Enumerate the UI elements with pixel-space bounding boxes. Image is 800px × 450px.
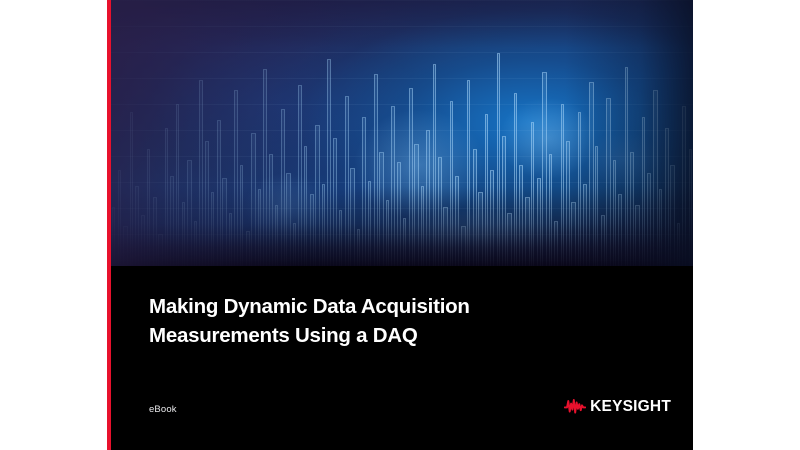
- spectrum-bar: [571, 202, 576, 266]
- spectrum-bar: [583, 184, 587, 266]
- spectrum-bar: [630, 152, 634, 266]
- spectrum-bar: [153, 197, 157, 266]
- spectrum-bar: [566, 141, 570, 266]
- spectrum-bar: [490, 170, 494, 266]
- spectrum-bar: [357, 229, 360, 266]
- spectrum-bar: [391, 106, 395, 266]
- spectrum-bar: [345, 96, 349, 266]
- spectrum-bar: [176, 104, 179, 266]
- spectrum-bar: [438, 157, 442, 266]
- spectrum-bar: [443, 207, 448, 266]
- spectrum-bar: [211, 192, 214, 266]
- brand-accent-stripe: [107, 0, 111, 450]
- ebook-cover: Making Dynamic Data Acquisition Measurem…: [107, 0, 693, 450]
- spectrum-bar: [368, 181, 371, 266]
- spectrum-bar: [507, 213, 512, 266]
- spectrum-bar: [339, 210, 342, 266]
- spectrum-bar: [304, 146, 307, 266]
- spectrum-bar: [333, 138, 338, 266]
- spectrum-bar: [293, 223, 296, 266]
- spectrum-bar: [414, 144, 419, 266]
- spectrum-bar: [618, 194, 622, 266]
- document-type-label: eBook: [149, 404, 177, 415]
- spectrum-bar: [141, 215, 146, 266]
- spectrum-bar: [310, 194, 314, 266]
- spectrum-bar: [537, 178, 541, 266]
- spectrum-bar: [426, 130, 430, 266]
- keysight-wordmark: KEYSIGHT: [590, 399, 671, 415]
- page-title-line-2: Measurements Using a DAQ: [149, 324, 418, 347]
- spectrum-bar: [653, 90, 658, 266]
- spectrum-bar: [275, 205, 278, 266]
- spectrum-bar: [519, 165, 523, 266]
- spectrum-bar: [485, 114, 488, 266]
- spectrum-bar: [147, 149, 150, 266]
- spectrum-bar: [595, 146, 598, 266]
- spectrum-bar: [269, 154, 274, 266]
- spectrum-bar: [112, 207, 115, 266]
- waveform-mark-icon: [564, 399, 586, 414]
- spectrum-bar: [450, 101, 453, 266]
- spectrum-bar: [165, 128, 168, 266]
- spectrum-bar: [263, 69, 267, 266]
- spectrum-bar: [549, 154, 552, 266]
- spectrum-bar: [601, 215, 605, 266]
- spectrum-bar: [525, 197, 530, 266]
- spectrum-bar: [467, 80, 470, 266]
- spectrum-bar: [433, 64, 436, 266]
- spectrum-bar: [187, 160, 192, 266]
- spectrum-bar: [625, 67, 628, 267]
- spectrum-bar: [589, 82, 594, 266]
- spectrum-bar: [606, 98, 611, 266]
- spectrum-bar: [298, 85, 302, 266]
- spectrum-bar: [199, 80, 203, 266]
- spectrum-bar: [677, 223, 680, 266]
- spectrum-bar: [409, 88, 413, 266]
- spectrum-bar: [234, 90, 238, 266]
- spectrum-bar: [473, 149, 477, 266]
- spectrum-bar: [322, 184, 325, 266]
- spectrum-bar: [240, 165, 243, 266]
- spectrum-bar: [461, 226, 466, 266]
- spectrum-bar: [246, 231, 250, 266]
- spectrum-bar: [397, 162, 402, 266]
- page-title-line-1: Making Dynamic Data Acquisition: [149, 295, 470, 318]
- spectrum-bar: [182, 202, 186, 266]
- spectrum-bar: [281, 109, 285, 266]
- spectrum-bar: [689, 149, 692, 266]
- spectrum-bar: [362, 117, 366, 266]
- spectrum-bar: [647, 173, 651, 266]
- spectrum-bar: [613, 160, 616, 266]
- page-title: Making Dynamic Data Acquisition Measurem…: [149, 292, 569, 350]
- spectrum-bar: [315, 125, 320, 266]
- spectrum-bar: [514, 93, 517, 266]
- spectrum-bar: [222, 178, 227, 266]
- spectrum-bar: [123, 226, 128, 266]
- spectrum-bar: [386, 200, 389, 267]
- spectrum-bar: [170, 176, 174, 266]
- spectrum-bar: [554, 221, 558, 266]
- spectrum-bar: [659, 189, 662, 266]
- spectrum-bar: [205, 141, 210, 266]
- cover-text-panel: Making Dynamic Data Acquisition Measurem…: [111, 266, 693, 450]
- hero-spectrum-graphic: [111, 0, 693, 266]
- spectrum-bar: [217, 120, 221, 266]
- spectrum-bar: [379, 152, 384, 266]
- spectrum-bar: [403, 218, 406, 266]
- spectrum-bar: [130, 112, 133, 266]
- spectrum-bar: [327, 59, 331, 266]
- spectrum-bar: [158, 234, 163, 266]
- spectrum-bar: [635, 205, 640, 266]
- spectrum-bar: [561, 104, 564, 266]
- spectrum-bar: [251, 133, 256, 266]
- spectrum-bar: [421, 186, 424, 266]
- spectrum-bar: [497, 53, 500, 266]
- spectrum-bar: [670, 165, 675, 266]
- spectrum-bar: [665, 128, 669, 266]
- spectrum-bar: [258, 189, 261, 266]
- spectrum-bar: [350, 168, 355, 266]
- spectrum-bar: [478, 192, 483, 266]
- spectrum-bars-layer: [111, 0, 693, 266]
- spectrum-bar: [194, 221, 197, 266]
- spectrum-bar: [642, 117, 645, 266]
- spectrum-bar: [531, 122, 534, 266]
- spectrum-bar: [578, 112, 581, 266]
- spectrum-bar: [682, 106, 686, 266]
- spectrum-bar: [542, 72, 547, 266]
- spectrum-bar: [286, 173, 291, 266]
- spectrum-bar: [135, 186, 139, 266]
- keysight-logo: KEYSIGHT: [564, 399, 671, 415]
- spectrum-bar: [229, 213, 232, 266]
- spectrum-bar: [455, 176, 459, 266]
- spectrum-bar: [374, 74, 378, 266]
- cover-canvas: Making Dynamic Data Acquisition Measurem…: [0, 0, 800, 450]
- spectrum-bar: [118, 170, 122, 266]
- spectrum-bar: [502, 136, 506, 266]
